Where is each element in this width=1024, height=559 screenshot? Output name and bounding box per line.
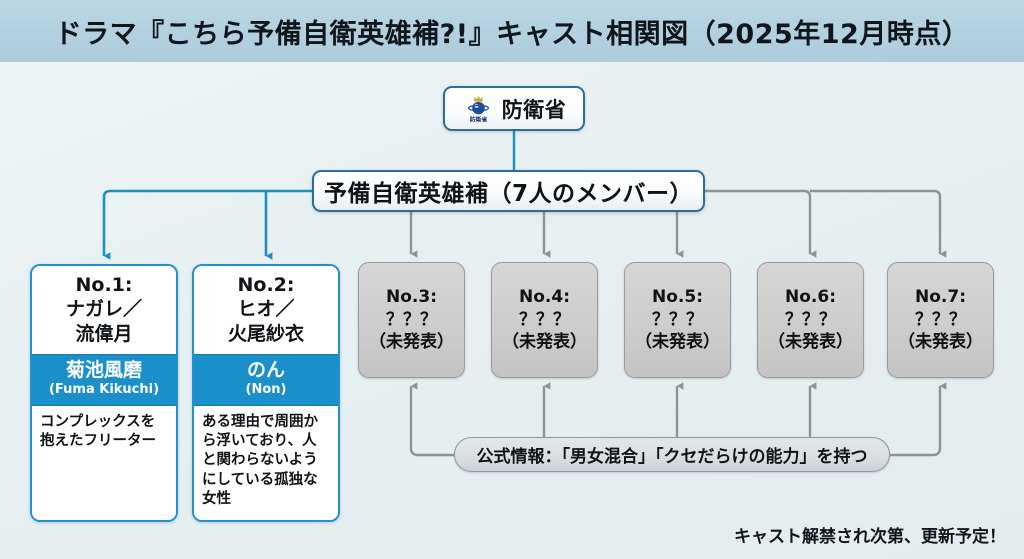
unknown-name-no5: ？？？	[652, 310, 703, 330]
cast-role-kana-no2: ヒオ／	[237, 298, 294, 320]
cast-role-kanji-no1: 流偉月	[75, 323, 132, 345]
cast-card-no3[interactable]: No.3: ？？？ （未発表）	[358, 262, 465, 378]
unknown-status-no6: （未発表）	[768, 332, 853, 352]
unknown-number-no4: No.4:	[519, 287, 570, 307]
unknown-text-no7: No.7: ？？？ （未発表）	[898, 286, 983, 354]
svg-text:防衛省: 防衛省	[469, 116, 487, 124]
cast-card-no2[interactable]: No.2: ヒオ／ 火尾紗衣 のん (Non) ある理由で周囲から浮いており、人…	[192, 264, 340, 522]
unknown-text-no4: No.4: ？？？ （未発表）	[502, 286, 587, 354]
unknown-status-no4: （未発表）	[502, 332, 587, 352]
reserve-hero-group-node[interactable]: 予備自衛英雄補（7人のメンバー）	[312, 170, 705, 212]
official-info-node[interactable]: 公式情報：「男女混合」「クセだらけの能力」を持つ	[454, 437, 890, 472]
wire-group-to-revealed-cards	[104, 191, 312, 256]
diagram-canvas: ドラマ『こちら予備自衛英雄補?!』キャスト相関図（2025年12月時点）	[0, 0, 1024, 559]
group-label: 予備自衛英雄補（7人のメンバー）	[324, 174, 693, 208]
unknown-name-no7: ？？？	[915, 310, 966, 330]
cast-card-no7[interactable]: No.7: ？？？ （未発表）	[887, 262, 994, 378]
cast-role-no2: No.2: ヒオ／ 火尾紗衣	[194, 266, 338, 354]
cast-actor-jp-no1: 菊池風磨	[35, 360, 173, 382]
unknown-status-no3: （未発表）	[369, 332, 454, 352]
unknown-text-no5: No.5: ？？？ （未発表）	[635, 286, 720, 354]
unknown-name-no4: ？？？	[519, 310, 570, 330]
cast-role-kana-no1: ナガレ／	[66, 298, 142, 320]
cast-number-no1: No.1:	[76, 274, 133, 296]
cast-card-no5[interactable]: No.5: ？？？ （未発表）	[624, 262, 731, 378]
unknown-status-no7: （未発表）	[898, 332, 983, 352]
cast-description-no1: コンプレックスを抱えたフリーター	[32, 406, 176, 520]
official-info-label: 公式情報：「男女混合」「クセだらけの能力」を持つ	[477, 442, 868, 467]
unknown-text-no3: No.3: ？？？ （未発表）	[369, 286, 454, 354]
unknown-name-no3: ？？？	[386, 310, 437, 330]
ministry-of-defense-emblem-icon: 防衛省	[462, 92, 495, 125]
cast-description-no2: ある理由で周囲から浮いており、人と関わらないようにしている孤独な女性	[194, 406, 338, 520]
unknown-number-no3: No.3:	[386, 287, 437, 307]
page-title: ドラマ『こちら予備自衛英雄補?!』キャスト相関図（2025年12月時点）	[55, 12, 970, 51]
cast-actor-en-no1: (Fuma Kikuchi)	[35, 382, 173, 399]
cast-role-kanji-no2: 火尾紗衣	[228, 323, 304, 345]
cast-card-no6[interactable]: No.6: ？？？ （未発表）	[757, 262, 864, 378]
cast-role-no1: No.1: ナガレ／ 流偉月	[32, 266, 176, 354]
cast-actor-en-no2: (Non)	[197, 382, 335, 399]
title-bar: ドラマ『こちら予備自衛英雄補?!』キャスト相関図（2025年12月時点）	[0, 0, 1024, 62]
unknown-number-no6: No.6:	[785, 287, 836, 307]
cast-number-no2: No.2:	[238, 274, 295, 296]
footer-note: キャスト解禁され次第、更新予定！	[734, 522, 1006, 547]
unknown-number-no7: No.7:	[915, 287, 966, 307]
ministry-of-defense-node[interactable]: 防衛省 防衛省	[443, 86, 585, 131]
cast-actor-jp-no2: のん	[197, 360, 335, 382]
unknown-number-no5: No.5:	[652, 287, 703, 307]
unknown-name-no6: ？？？	[785, 310, 836, 330]
unknown-text-no6: No.6: ？？？ （未発表）	[768, 286, 853, 354]
cast-actor-band-no2: のん (Non)	[194, 354, 338, 406]
cast-card-no4[interactable]: No.4: ？？？ （未発表）	[491, 262, 598, 378]
ministry-label: 防衛省	[502, 94, 567, 124]
cast-card-no1[interactable]: No.1: ナガレ／ 流偉月 菊池風磨 (Fuma Kikuchi) コンプレッ…	[30, 264, 178, 522]
cast-actor-band-no1: 菊池風磨 (Fuma Kikuchi)	[32, 354, 176, 406]
unknown-status-no5: （未発表）	[635, 332, 720, 352]
